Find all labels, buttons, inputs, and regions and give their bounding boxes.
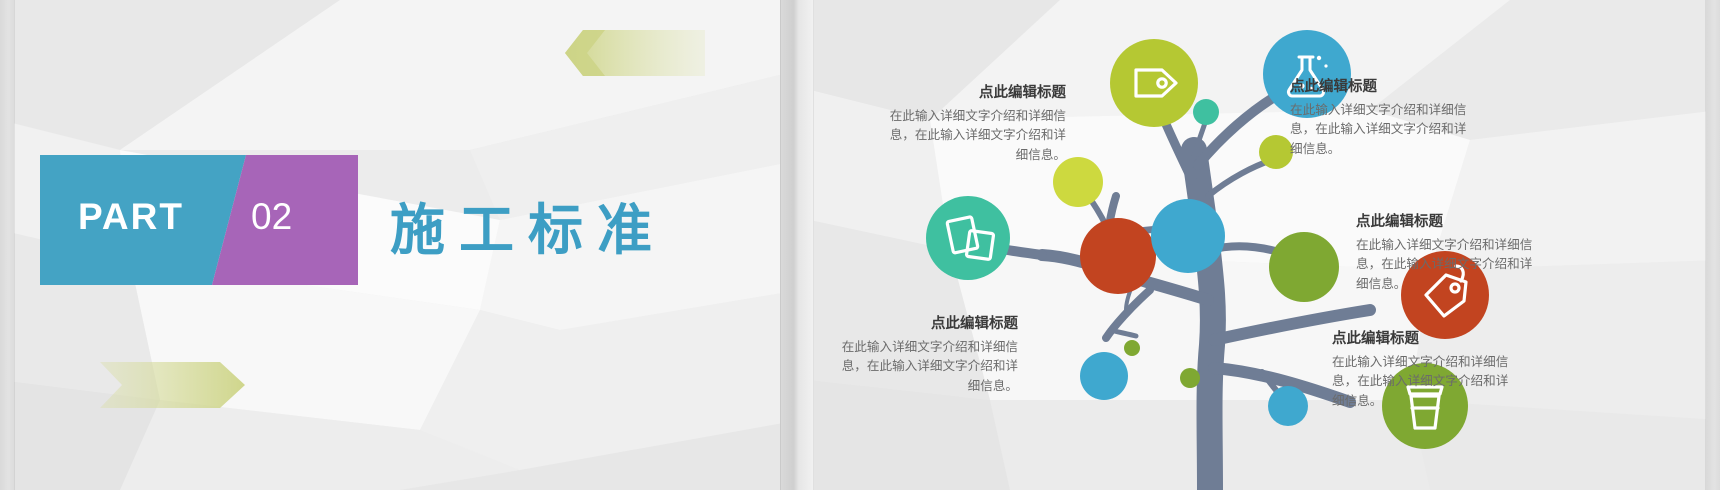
callout-photos[interactable]: 点此编辑标题 在此输入详细文字介绍和详细信息，在此输入详细文字介绍和详细信息。	[840, 315, 1018, 395]
callout-title: 点此编辑标题	[888, 84, 1066, 103]
part-label: PART	[78, 196, 184, 238]
callout-tag[interactable]: 点此编辑标题 在此输入详细文字介绍和详细信息，在此输入详细文字介绍和详细信息。	[888, 84, 1066, 164]
slide-canvas: PART 02 施工标准	[0, 0, 1720, 490]
page-title: 施工标准	[390, 185, 666, 265]
decorative-arrow-top	[565, 28, 705, 78]
right-panel-background	[810, 0, 1720, 490]
callout-title: 点此编辑标题	[1332, 330, 1510, 349]
page-edge-line-left	[14, 0, 15, 490]
callout-title: 点此编辑标题	[1290, 78, 1468, 97]
callout-body: 在此输入详细文字介绍和详细信息，在此输入详细文字介绍和详细信息。	[1332, 352, 1510, 411]
page-gutter-left	[0, 0, 14, 490]
callout-title: 点此编辑标题	[1356, 213, 1534, 232]
page-gutter-right	[1706, 0, 1720, 490]
callout-body: 在此输入详细文字介绍和详细信息，在此输入详细文字介绍和详细信息。	[1356, 235, 1534, 294]
page-edge-line-right	[1705, 0, 1706, 490]
callout-coffee[interactable]: 点此编辑标题 在此输入详细文字介绍和详细信息，在此输入详细文字介绍和详细信息。	[1332, 330, 1510, 410]
left-panel: PART 02 施工标准	[0, 0, 800, 490]
callout-body: 在此输入详细文字介绍和详细信息，在此输入详细文字介绍和详细信息。	[840, 337, 1018, 396]
part-number: 02	[251, 196, 292, 238]
right-panel: 点此编辑标题 在此输入详细文字介绍和详细信息，在此输入详细文字介绍和详细信息。 …	[810, 0, 1720, 490]
callout-flask[interactable]: 点此编辑标题 在此输入详细文字介绍和详细信息，在此输入详细文字介绍和详细信息。	[1290, 78, 1468, 158]
callout-title: 点此编辑标题	[840, 315, 1018, 334]
polygon-background-right	[810, 0, 1720, 490]
page-gutter-middle	[780, 0, 814, 490]
decorative-arrow-bottom	[100, 360, 245, 410]
callout-price-tag[interactable]: 点此编辑标题 在此输入详细文字介绍和详细信息，在此输入详细文字介绍和详细信息。	[1356, 213, 1534, 293]
callout-body: 在此输入详细文字介绍和详细信息，在此输入详细文字介绍和详细信息。	[888, 106, 1066, 165]
callout-body: 在此输入详细文字介绍和详细信息，在此输入详细文字介绍和详细信息。	[1290, 100, 1468, 159]
page-edge-line-mid-b	[813, 0, 814, 490]
page-edge-line-mid-a	[780, 0, 781, 490]
